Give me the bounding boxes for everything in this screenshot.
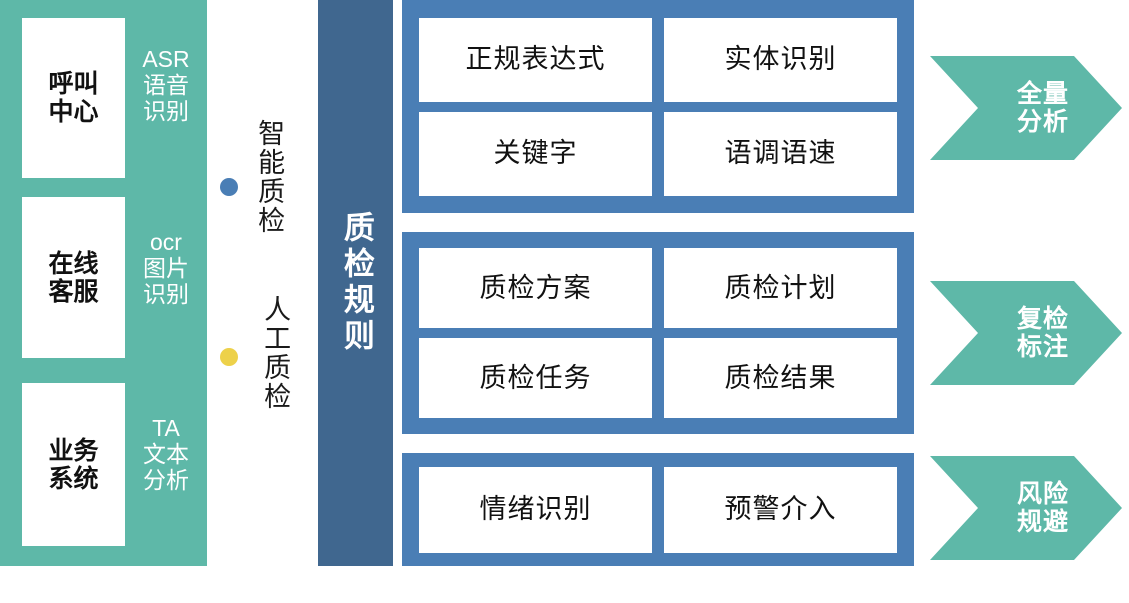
feature-label: 语调语速 [725,140,837,167]
source-tech-asr: ASR语音识别 [128,46,204,125]
mode-label-smart-inspection[interactable]: 智能质检 [254,119,283,235]
rule-engine-row: 正规表达式 实体识别 关键字 语调语速 [402,0,914,213]
source-card-label: 呼叫中心 [48,70,98,126]
source-tech-ocr: ocr图片识别 [128,229,204,308]
source-card-label: 业务系统 [48,437,98,493]
rules-bar-label: 质检规则 [338,211,373,355]
source-card-business-system[interactable]: 业务系统 [22,383,125,546]
inspection-modes-group: 智能质检 人工质检 [210,0,316,566]
feature-box[interactable]: 质检任务 [419,338,652,418]
source-card-call-center[interactable]: 呼叫中心 [22,18,125,178]
feature-box[interactable]: 关键字 [419,112,652,196]
outcome-label: 风险规避 [983,480,1069,537]
quality-inspection-rules-bar[interactable]: 质检规则 [318,0,393,566]
data-sources-panel: 呼叫中心 ASR语音识别 在线客服 ocr图片识别 业务系统 TA文本分析 [0,0,207,566]
source-card-label: 在线客服 [48,250,98,306]
feature-label: 质检任务 [480,365,592,392]
source-card-online-service[interactable]: 在线客服 [22,197,125,358]
outcome-label: 全量分析 [983,80,1069,137]
feature-label: 正规表达式 [466,46,606,73]
bullet-dot-manual-inspection [220,348,238,366]
feature-box[interactable]: 语调语速 [664,112,897,196]
outcome-chevron-full-analysis[interactable]: 全量分析 [930,56,1122,160]
feature-box[interactable]: 质检结果 [664,338,897,418]
feature-label: 质检方案 [480,275,592,302]
outcome-label: 复检标注 [983,305,1069,362]
inspection-workflow-row: 质检方案 质检计划 质检任务 质检结果 [402,232,914,434]
feature-label: 关键字 [494,140,578,167]
feature-box[interactable]: 质检计划 [664,248,897,328]
feature-box[interactable]: 质检方案 [419,248,652,328]
feature-label: 预警介入 [725,496,837,523]
source-tech-label: ocr图片识别 [143,229,189,307]
diagram-canvas: 呼叫中心 ASR语音识别 在线客服 ocr图片识别 业务系统 TA文本分析 智能… [0,0,1129,603]
feature-box[interactable]: 预警介入 [664,467,897,553]
feature-box[interactable]: 实体识别 [664,18,897,102]
feature-label: 质检结果 [725,365,837,392]
outcome-chevron-review-annotation[interactable]: 复检标注 [930,281,1122,385]
source-tech-label: ASR语音识别 [142,46,189,124]
source-tech-label: TA文本分析 [143,415,189,493]
source-tech-ta: TA文本分析 [128,415,204,494]
feature-box[interactable]: 情绪识别 [419,467,652,553]
feature-label: 实体识别 [725,46,837,73]
mode-label-manual-inspection[interactable]: 人工质检 [260,295,289,411]
feature-label: 情绪识别 [480,496,592,523]
feature-label: 质检计划 [725,275,837,302]
outcome-chevron-risk-avoidance[interactable]: 风险规避 [930,456,1122,560]
bullet-dot-smart-inspection [220,178,238,196]
feature-box[interactable]: 正规表达式 [419,18,652,102]
risk-detection-row: 情绪识别 预警介入 [402,453,914,566]
